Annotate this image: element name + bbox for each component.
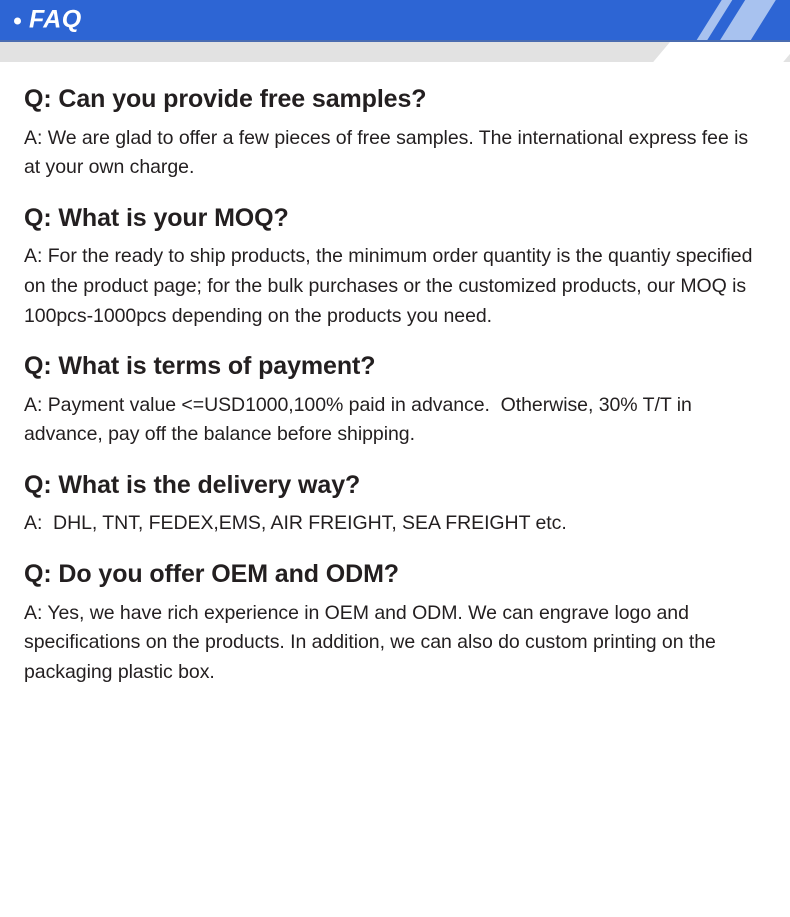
faq-answer: A: DHL, TNT, FEDEX,EMS, AIR FREIGHT, SEA… — [24, 509, 766, 539]
faq-answer: A: Yes, we have rich experience in OEM a… — [24, 599, 766, 688]
faq-answer: A: For the ready to ship products, the m… — [24, 242, 766, 331]
diagonal-stripe-wide-icon — [705, 0, 780, 40]
faq-header-bar: FAQ — [0, 0, 790, 40]
faq-entry: Q: What is terms of payment? A: Payment … — [24, 351, 766, 450]
faq-entry: Q: What is your MOQ? A: For the ready to… — [24, 203, 766, 331]
faq-entry: Q: Can you provide free samples? A: We a… — [24, 84, 766, 183]
faq-question: Q: Can you provide free samples? — [24, 84, 766, 115]
faq-question: Q: What is the delivery way? — [24, 470, 766, 501]
faq-entry: Q: What is the delivery way? A: DHL, TNT… — [24, 470, 766, 539]
faq-question: Q: What is your MOQ? — [24, 203, 766, 234]
diagonal-stripe-thin-icon — [679, 0, 740, 40]
faq-list: Q: Can you provide free samples? A: We a… — [0, 62, 790, 687]
faq-entry: Q: Do you offer OEM and ODM? A: Yes, we … — [24, 559, 766, 687]
header-accent-band — [0, 40, 790, 62]
faq-question: Q: Do you offer OEM and ODM? — [24, 559, 766, 590]
faq-answer: A: We are glad to offer a few pieces of … — [24, 124, 766, 183]
faq-page: FAQ Q: Can you provide free samples? A: … — [0, 0, 790, 917]
faq-answer: A: Payment value <=USD1000,100% paid in … — [24, 391, 766, 450]
faq-question: Q: What is terms of payment? — [24, 351, 766, 382]
header-title-label: FAQ — [29, 8, 82, 33]
bullet-dot-icon — [14, 17, 21, 24]
header-title-group: FAQ — [14, 8, 82, 33]
header-accent-band-cut — [653, 42, 790, 62]
